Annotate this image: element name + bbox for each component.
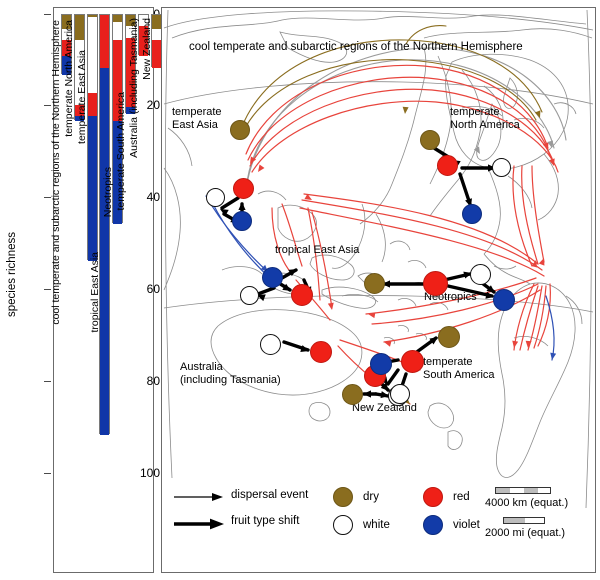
map-label-australia: Australia (including Tasmania) — [180, 361, 281, 386]
bar-label-1: cool temperate and subarctic regions of … — [50, 20, 62, 328]
bar-label-text-6: temperate South America — [115, 92, 127, 210]
y-tick-label-100: 100 — [120, 466, 160, 480]
map-label-temperate-east-asia: temperate East Asia — [172, 106, 222, 131]
node-new-zealand-dry[interactable] — [342, 384, 363, 405]
node-tropical-east-asia-red[interactable] — [291, 284, 313, 306]
map-label-temperate-south-america-line1: temperate — [423, 356, 495, 369]
node-tropical-east-asia-white[interactable] — [240, 286, 259, 305]
node-temperate-east-asia-dry[interactable] — [230, 120, 250, 140]
map-label-temperate-north-america-line1: temperate — [450, 106, 520, 119]
bar-label-text-8: New Zealand — [141, 18, 153, 80]
node-neotropics-red[interactable] — [423, 271, 448, 296]
node-neotropics-white[interactable] — [470, 264, 491, 285]
map-label-temperate-north-america: temperate North America — [450, 106, 520, 131]
legend-label-fruit-type-shift: fruit type shift — [231, 515, 299, 527]
map-label-new-zealand: New Zealand — [352, 402, 417, 415]
bar-2-segment-dry — [75, 15, 84, 40]
bar-chart-panel: 0 20 40 60 80 100 species richness cool … — [0, 0, 160, 580]
node-temperate-south-america-white[interactable] — [390, 384, 410, 404]
bar-4-segment-red — [100, 15, 109, 68]
legend-label-red: red — [453, 491, 470, 503]
y-tick-mark-100 — [44, 473, 51, 474]
map-label-temperate-south-america: temperate South America — [423, 356, 495, 381]
map-title: cool temperate and subarctic regions of … — [189, 41, 523, 53]
node-temperate-south-america-dry[interactable] — [438, 326, 460, 348]
legend-label-dry: dry — [363, 491, 379, 503]
legend: dispersal event fruit type shift dry whi… — [173, 479, 573, 539]
y-tick-label-80: 80 — [120, 374, 160, 388]
y-tick-mark-80 — [44, 381, 51, 382]
bar-label-3: temperate East Asia — [76, 50, 88, 147]
bar-label-text-5: Neotropics — [102, 167, 114, 217]
scale-bar-km — [495, 487, 551, 494]
node-temperate-north-america-violet[interactable] — [462, 204, 482, 224]
map-label-temperate-east-asia-line2: East Asia — [172, 119, 222, 132]
bar-5-segment-dry — [113, 15, 122, 22]
bar-label-8: New Zealand — [141, 18, 153, 83]
scale-bar-mi — [503, 517, 545, 524]
bar-5-segment-white — [113, 22, 122, 40]
figure-root: 0 20 40 60 80 100 species richness cool … — [0, 0, 600, 580]
y-tick-mark-0 — [44, 14, 51, 15]
legend-label-dispersal-event: dispersal event — [231, 489, 308, 501]
bar-3-segment-red — [88, 93, 97, 116]
node-australia-red[interactable] — [310, 341, 332, 363]
y-axis-label-text: species richness — [6, 232, 18, 317]
node-temperate-east-asia-red[interactable] — [233, 178, 254, 199]
node-temperate-east-asia-violet[interactable] — [232, 211, 252, 231]
route-arrowheads-red — [247, 142, 556, 372]
map-label-temperate-south-america-line2: South America — [423, 369, 495, 382]
legend-label-violet: violet — [453, 519, 480, 531]
y-tick-label-60: 60 — [120, 282, 160, 296]
legend-swatch-dry — [333, 487, 353, 507]
bar-label-text-4: tropical East Asia — [89, 252, 101, 333]
bar-label-5: Neotropics — [102, 167, 114, 220]
legend-label-white: white — [363, 519, 390, 531]
map-label-temperate-east-asia-line1: temperate — [172, 106, 222, 119]
bar-3-segment-violet — [88, 116, 97, 261]
fruit-type-shift-arrow-icon — [173, 517, 225, 531]
node-neotropics-dry[interactable] — [364, 273, 385, 294]
node-temperate-south-america-red[interactable] — [401, 350, 424, 373]
y-axis-label: species richness — [6, 232, 18, 320]
bar-label-text-7: Australia (including Tasmania) — [128, 18, 140, 158]
bar-4-segment-violet — [100, 68, 109, 435]
node-tropical-east-asia-violet[interactable] — [262, 267, 283, 288]
bar-label-7: Australia (including Tasmania) — [128, 18, 140, 161]
legend-swatch-violet — [423, 515, 443, 535]
bar-label-2: temperate North America — [63, 20, 75, 140]
bar-label-4: tropical East Asia — [89, 252, 101, 336]
bar-3-segment-white — [88, 17, 97, 93]
node-neotropics-violet[interactable] — [493, 289, 515, 311]
map-label-australia-line1: Australia — [180, 361, 281, 374]
node-australia-white[interactable] — [260, 334, 281, 355]
bar-label-text-3: temperate East Asia — [76, 50, 88, 144]
map-label-tropical-east-asia: tropical East Asia — [275, 244, 359, 257]
bar-4[interactable] — [99, 14, 110, 434]
legend-swatch-red — [423, 487, 443, 507]
dispersal-map-panel: cool temperate and subarctic regions of … — [161, 7, 596, 573]
dispersal-event-arrow-icon — [173, 491, 225, 503]
bar-3[interactable] — [87, 14, 98, 260]
node-temperate-east-asia-white[interactable] — [206, 188, 225, 207]
node-temperate-north-america-white[interactable] — [492, 158, 511, 177]
scale-label-mi: 2000 mi (equat.) — [485, 527, 565, 539]
map-label-temperate-north-america-line2: North America — [450, 119, 520, 132]
node-temperate-north-america-red[interactable] — [437, 155, 458, 176]
bar-label-6: temperate South America — [115, 92, 127, 213]
scale-label-km: 4000 km (equat.) — [485, 497, 568, 509]
node-temperate-north-america-dry[interactable] — [420, 130, 440, 150]
node-temperate-south-america-violet[interactable] — [370, 353, 392, 375]
legend-swatch-white — [333, 515, 353, 535]
bar-label-text-1: cool temperate and subarctic regions of … — [50, 20, 62, 325]
bar-label-text-2: temperate North America — [63, 20, 75, 137]
map-label-australia-line2: (including Tasmania) — [180, 374, 281, 387]
